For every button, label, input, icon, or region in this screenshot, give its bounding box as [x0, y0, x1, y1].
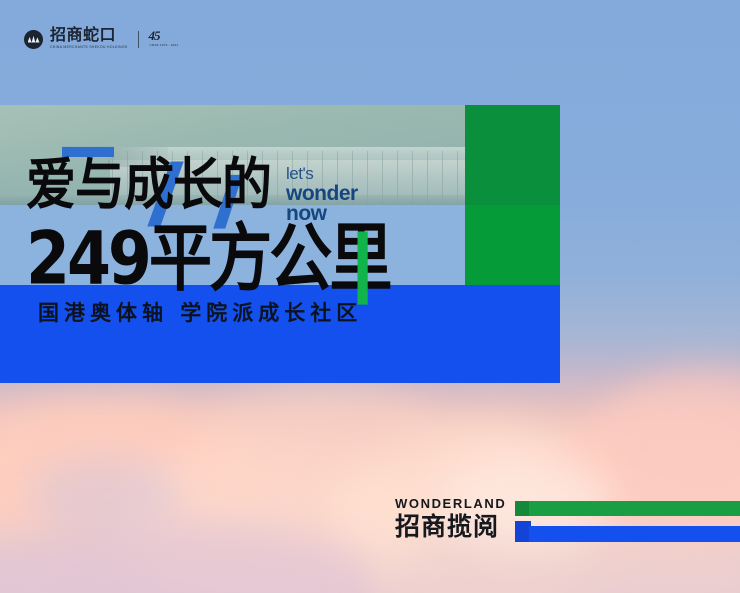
corporate-name-en: CHINA MERCHANTS SHEKOU HOLDINGS: [50, 46, 128, 49]
key-visual-banner: 爱与成长的 249平方公里 let's wonder now 国港奥体轴 学院派…: [0, 105, 560, 383]
corporate-logo: 招商蛇口 CHINA MERCHANTS SHEKOU HOLDINGS 45 …: [24, 26, 179, 52]
brand-color-bars: [515, 501, 740, 542]
project-name-cn: 招商揽阅: [395, 514, 506, 539]
project-brand-text: WONDERLAND 招商揽阅: [395, 497, 506, 539]
subtitle-text: 国港奥体轴 学院派成长社区: [38, 303, 362, 324]
anniversary-number: 45: [149, 29, 177, 42]
green-accent-block-upper: [465, 105, 560, 205]
logo-divider: [138, 31, 139, 48]
wonder-line-lets: let's: [286, 165, 358, 182]
corporate-name-cn: 招商蛇口: [50, 28, 128, 44]
cloud-haze-overlay: [0, 360, 740, 593]
wonder-slogan: let's wonder now: [286, 165, 358, 224]
poster-canvas: 招商蛇口 CHINA MERCHANTS SHEKOU HOLDINGS 45 …: [0, 0, 740, 593]
anniversary-badge: 45 CMSK 1979 - 2024: [149, 28, 179, 50]
corporate-logo-text: 招商蛇口 CHINA MERCHANTS SHEKOU HOLDINGS: [50, 28, 128, 49]
brand-bar-blue: [529, 526, 740, 542]
headline-line-2-wrap: 249平方公里: [26, 222, 390, 295]
headline-line-1: 爱与成长的: [26, 153, 271, 218]
anniversary-subtext: CMSK 1979 - 2024: [150, 43, 179, 47]
wonder-line-wonder: wonder: [286, 183, 358, 204]
china-merchants-emblem-icon: [24, 30, 43, 49]
headline-line-2: 249平方公里: [26, 215, 390, 301]
project-name-en: WONDERLAND: [395, 497, 506, 510]
headline-green-bar-accent: [358, 231, 368, 304]
wonder-line-now: now: [286, 203, 358, 224]
project-brand-lockup: WONDERLAND 招商揽阅: [395, 497, 506, 539]
brand-bar-green: [529, 501, 740, 516]
